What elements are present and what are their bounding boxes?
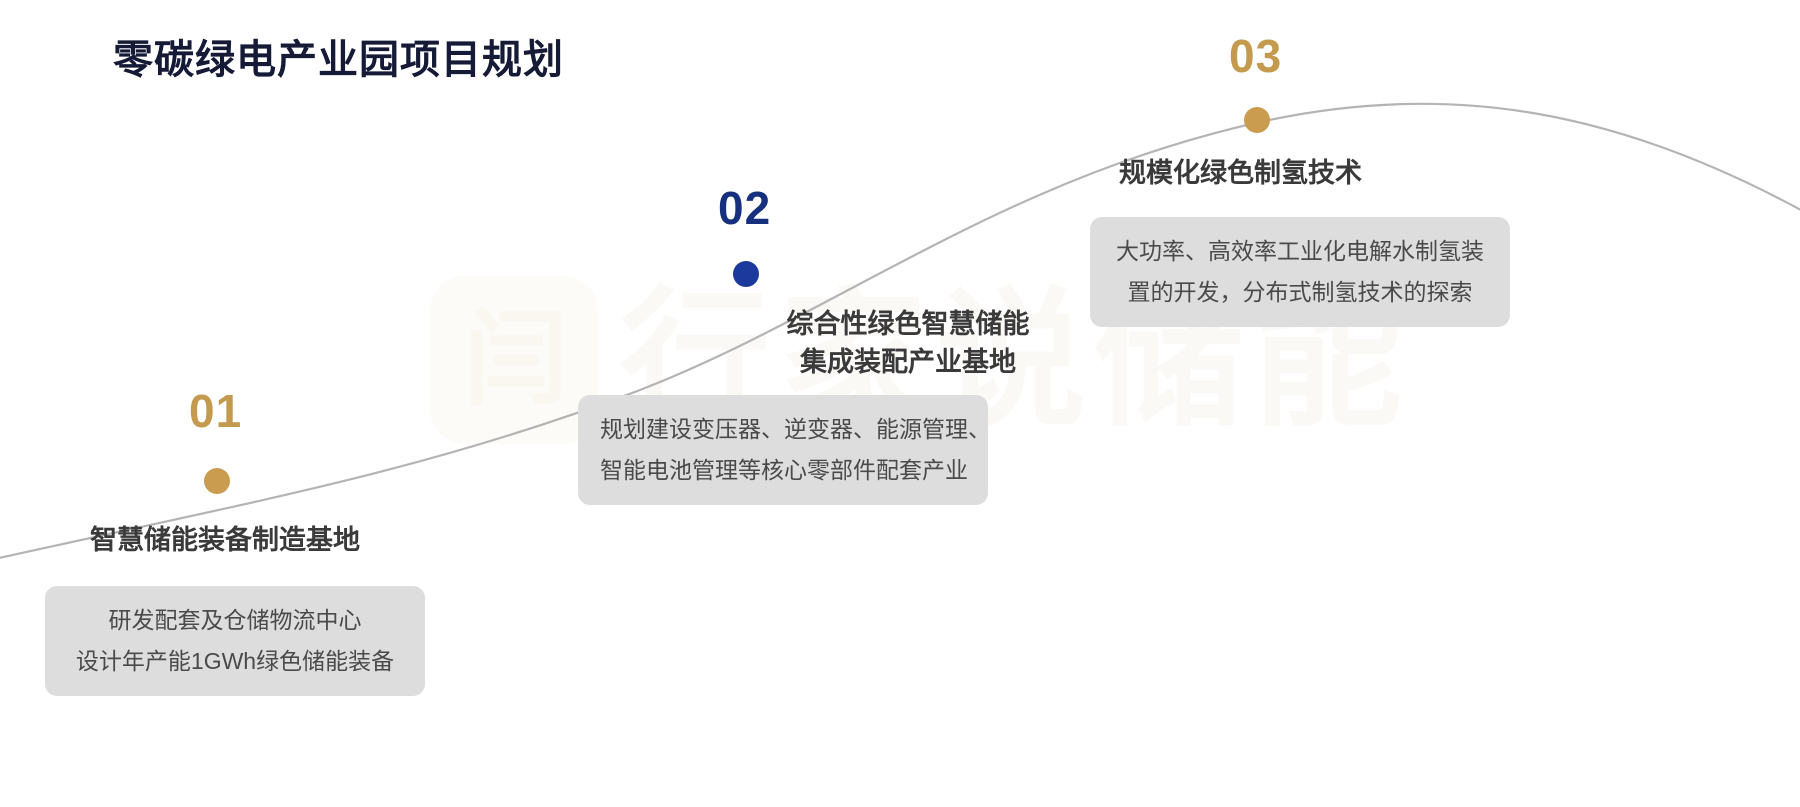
node-dot-03: [1244, 107, 1270, 133]
description-line: 智能电池管理等核心零部件配套产业: [600, 450, 966, 491]
node-number-01: 01: [189, 388, 242, 434]
description-line: 研发配套及仓储物流中心: [67, 600, 403, 641]
slide-canvas: 闫 行家说储能 零碳绿电产业园项目规划 01 智慧储能装备制造基地 研发配套及仓…: [0, 0, 1800, 807]
node-title-03: 规模化绿色制氢技术: [1119, 154, 1362, 192]
node-dot-02: [733, 261, 759, 287]
node-number-02: 02: [718, 185, 771, 231]
description-line: 规划建设变压器、逆变器、能源管理、: [600, 409, 966, 450]
node-number-03: 03: [1229, 33, 1282, 79]
node-title-02: 综合性绿色智慧储能 集成装配产业基地: [764, 305, 1052, 382]
description-line: 大功率、高效率工业化电解水制氢装: [1112, 231, 1488, 272]
node-description-01: 研发配套及仓储物流中心 设计年产能1GWh绿色储能装备: [45, 586, 425, 696]
page-title: 零碳绿电产业园项目规划: [113, 27, 564, 85]
node-title-01: 智慧储能装备制造基地: [90, 521, 360, 559]
watermark-badge-text: 闫: [464, 308, 564, 412]
node-description-03: 大功率、高效率工业化电解水制氢装 置的开发，分布式制氢技术的探索: [1090, 217, 1510, 327]
description-line: 置的开发，分布式制氢技术的探索: [1112, 272, 1488, 313]
description-line: 设计年产能1GWh绿色储能装备: [67, 641, 403, 682]
watermark-badge-icon: 闫: [430, 276, 598, 444]
node-title-line: 集成装配产业基地: [764, 343, 1052, 381]
node-dot-01: [204, 468, 230, 494]
node-description-02: 规划建设变压器、逆变器、能源管理、 智能电池管理等核心零部件配套产业: [578, 395, 988, 505]
node-title-line: 综合性绿色智慧储能: [764, 305, 1052, 343]
